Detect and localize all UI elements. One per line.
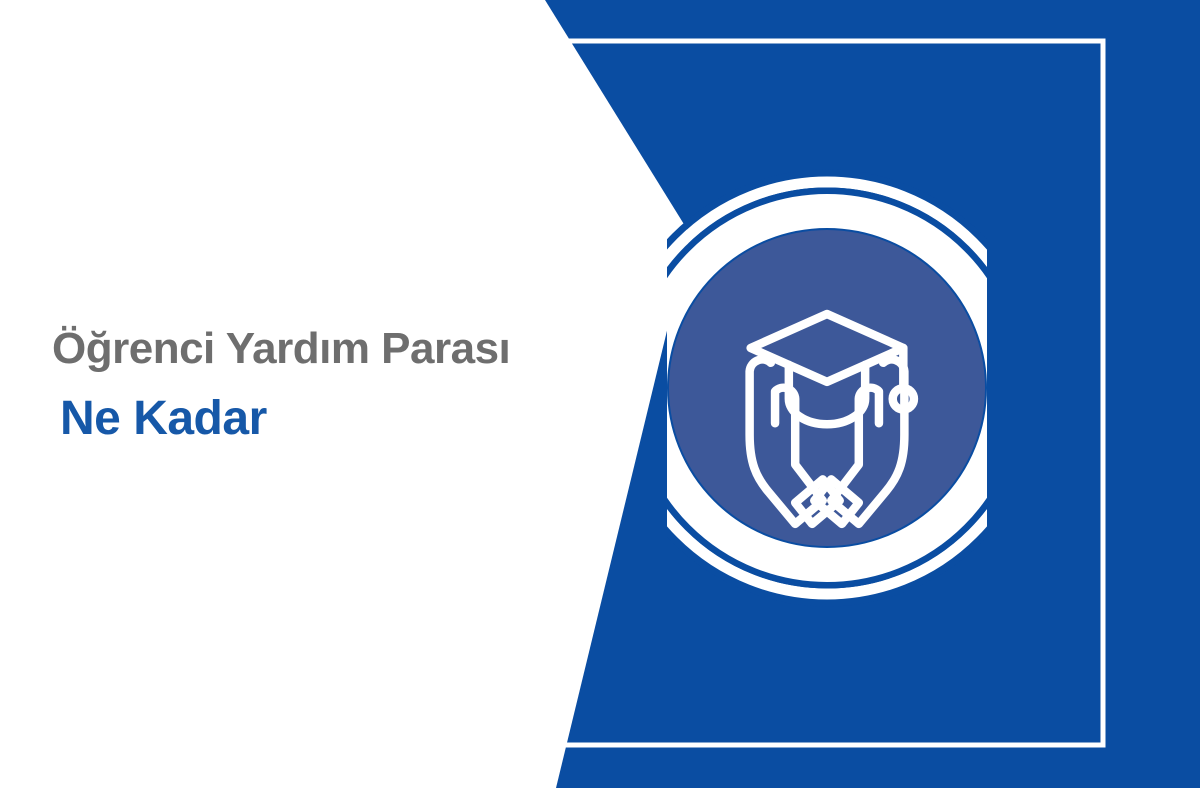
headline-bottom: Ne Kadar <box>60 391 652 448</box>
banner-canvas: Öğrenci Yardım Parası Ne Kadar <box>0 0 1200 788</box>
emblem-graphic <box>667 166 987 610</box>
headline-top: Öğrenci Yardım Parası <box>52 323 652 375</box>
headline-block: Öğrenci Yardım Parası Ne Kadar <box>52 323 652 448</box>
